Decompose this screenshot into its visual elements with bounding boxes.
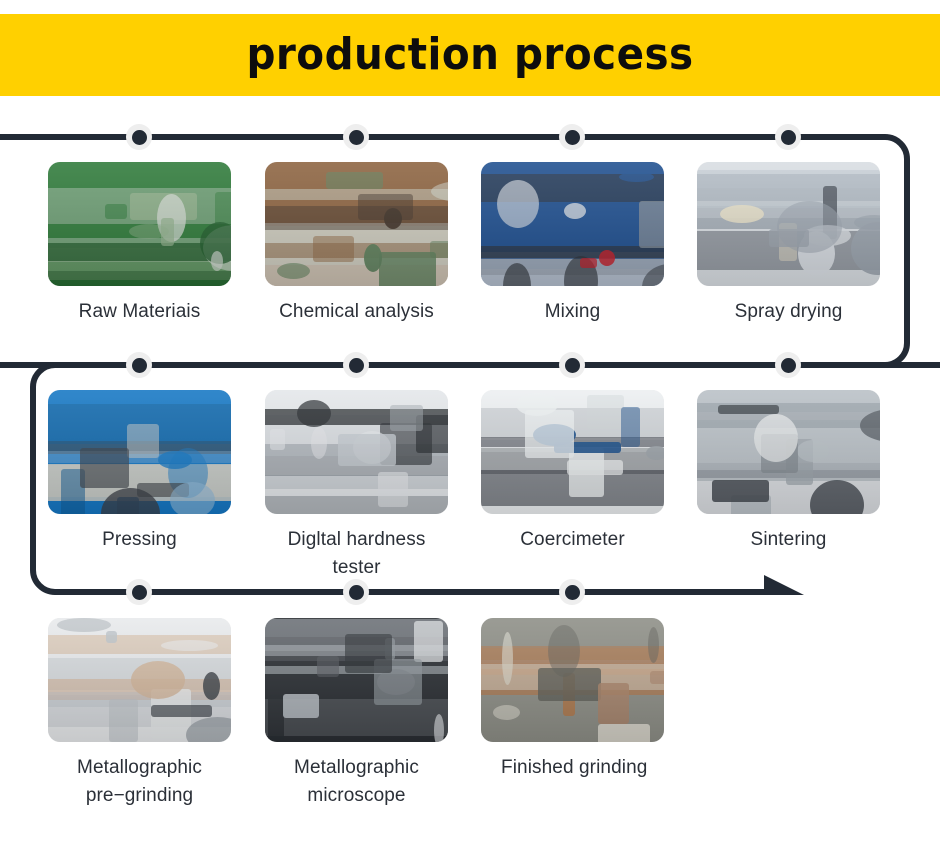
step-finished-grinding[interactable]: Finished grinding <box>481 618 664 782</box>
marker-r1-c1 <box>126 124 152 150</box>
step-coercimeter-label: Coercimeter <box>481 526 664 554</box>
step-raw-materials-label: Raw Materiais <box>48 298 231 326</box>
step-sintering[interactable]: Sintering <box>697 390 880 554</box>
marker-r1-c2 <box>343 124 369 150</box>
marker-r2-c4 <box>775 352 801 378</box>
step-mixing-label: Mixing <box>481 298 664 326</box>
step-spray-drying-label: Spray drying <box>697 298 880 326</box>
step-chemical-analysis[interactable]: Chemical analysis <box>265 162 448 326</box>
step-finished-grinding-image[interactable] <box>481 618 664 742</box>
step-finished-grinding-label: Finished grinding <box>481 754 664 782</box>
step-spray-drying[interactable]: Spray drying <box>697 162 880 326</box>
marker-r1-c4 <box>775 124 801 150</box>
step-metallographic-pre-grinding-label: Metallographic pre−grinding <box>48 754 231 809</box>
arrow-right-icon <box>764 575 804 595</box>
step-metallographic-microscope[interactable]: Metallographic microscope <box>265 618 448 809</box>
step-chemical-analysis-label: Chemical analysis <box>265 298 448 326</box>
step-metallographic-pre-grinding-image[interactable] <box>48 618 231 742</box>
step-mixing-image[interactable] <box>481 162 664 286</box>
step-metallographic-microscope-label: Metallographic microscope <box>265 754 448 809</box>
marker-r3-c1 <box>126 579 152 605</box>
step-sintering-image[interactable] <box>697 390 880 514</box>
step-raw-materials[interactable]: Raw Materiais <box>48 162 231 326</box>
step-digital-hardness-tester-label: Digltal hardness tester <box>265 526 448 581</box>
page-title: production process <box>246 33 693 77</box>
step-metallographic-pre-grinding[interactable]: Metallographic pre−grinding <box>48 618 231 809</box>
marker-r2-c3 <box>559 352 585 378</box>
marker-r2-c1 <box>126 352 152 378</box>
step-chemical-analysis-image[interactable] <box>265 162 448 286</box>
page-banner: production process <box>0 14 940 96</box>
step-pressing[interactable]: Pressing <box>48 390 231 554</box>
step-mixing[interactable]: Mixing <box>481 162 664 326</box>
step-digital-hardness-tester-image[interactable] <box>265 390 448 514</box>
production-process-infographic: production process Raw Materiais Chemica… <box>0 0 940 848</box>
step-metallographic-microscope-image[interactable] <box>265 618 448 742</box>
step-raw-materials-image[interactable] <box>48 162 231 286</box>
step-digital-hardness-tester[interactable]: Digltal hardness tester <box>265 390 448 581</box>
marker-r3-c2 <box>343 579 369 605</box>
step-coercimeter[interactable]: Coercimeter <box>481 390 664 554</box>
marker-r3-c3 <box>559 579 585 605</box>
step-sintering-label: Sintering <box>697 526 880 554</box>
marker-r1-c3 <box>559 124 585 150</box>
step-coercimeter-image[interactable] <box>481 390 664 514</box>
step-pressing-image[interactable] <box>48 390 231 514</box>
marker-r2-c2 <box>343 352 369 378</box>
step-pressing-label: Pressing <box>48 526 231 554</box>
step-spray-drying-image[interactable] <box>697 162 880 286</box>
